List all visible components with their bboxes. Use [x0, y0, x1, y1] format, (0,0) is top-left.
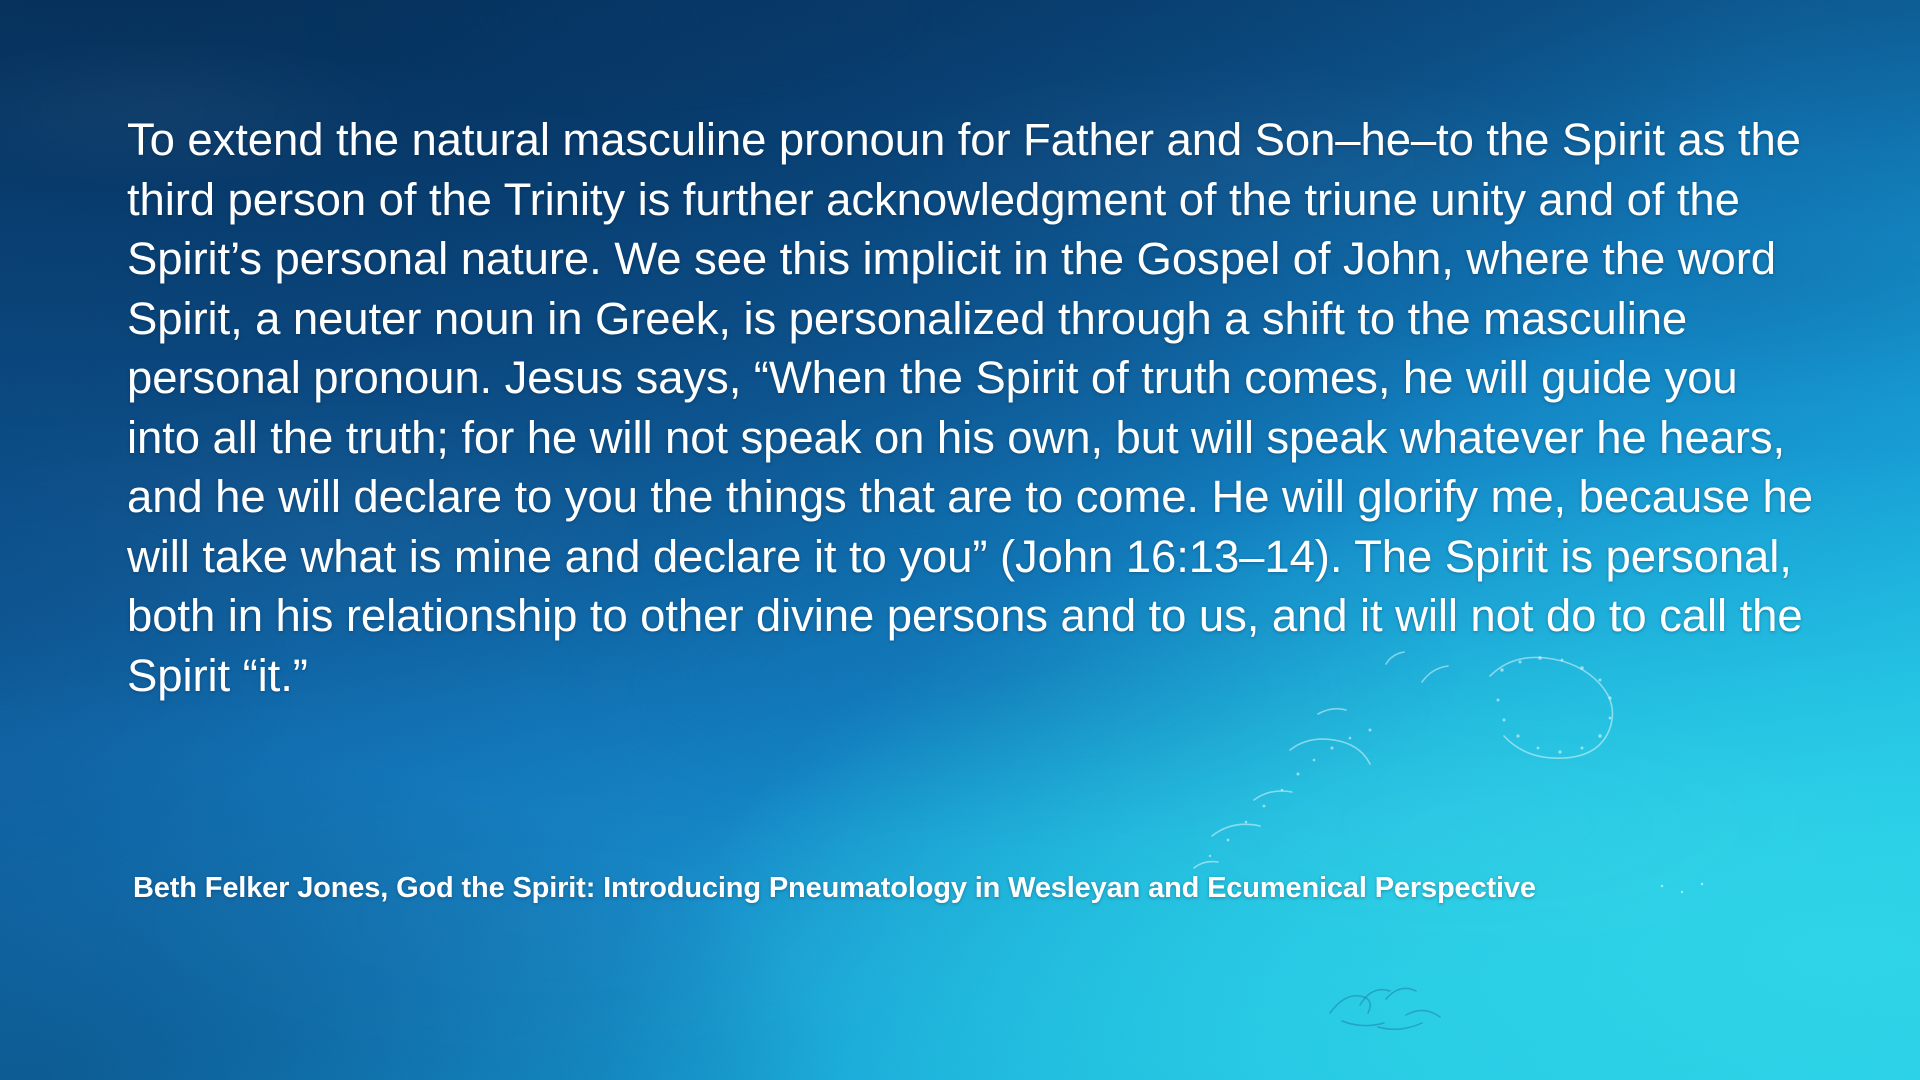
quote-text: To extend the natural masculine pronoun …: [127, 110, 1817, 705]
quote-slide: To extend the natural masculine pronoun …: [0, 0, 1920, 1080]
quote-attribution: Beth Felker Jones, God the Spirit: Intro…: [133, 869, 1833, 907]
